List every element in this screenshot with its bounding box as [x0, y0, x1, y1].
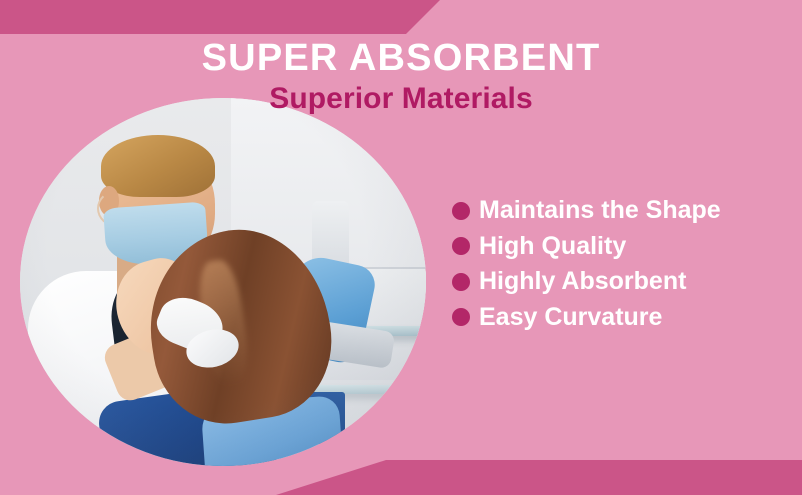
- dentist-photo-circle: [20, 98, 426, 466]
- bullet-dot-icon: [452, 237, 470, 255]
- headline-block: SUPER ABSORBENT Superior Materials: [0, 38, 802, 116]
- list-item: High Quality: [452, 232, 792, 262]
- page-subtitle: Superior Materials: [0, 82, 802, 116]
- photo-vignette: [20, 98, 426, 466]
- bullet-dot-icon: [452, 308, 470, 326]
- promo-banner: SUPER ABSORBENT Superior Materials Maint…: [0, 0, 802, 495]
- list-item: Easy Curvature: [452, 303, 792, 333]
- feature-label: Highly Absorbent: [479, 267, 686, 297]
- feature-list: Maintains the Shape High Quality Highly …: [452, 196, 792, 338]
- top-accent-band: [0, 0, 440, 34]
- page-title: SUPER ABSORBENT: [0, 38, 802, 78]
- bullet-dot-icon: [452, 273, 470, 291]
- list-item: Maintains the Shape: [452, 196, 792, 226]
- feature-label: High Quality: [479, 232, 626, 262]
- feature-label: Easy Curvature: [479, 303, 662, 333]
- feature-label: Maintains the Shape: [479, 196, 721, 226]
- list-item: Highly Absorbent: [452, 267, 792, 297]
- bullet-dot-icon: [452, 202, 470, 220]
